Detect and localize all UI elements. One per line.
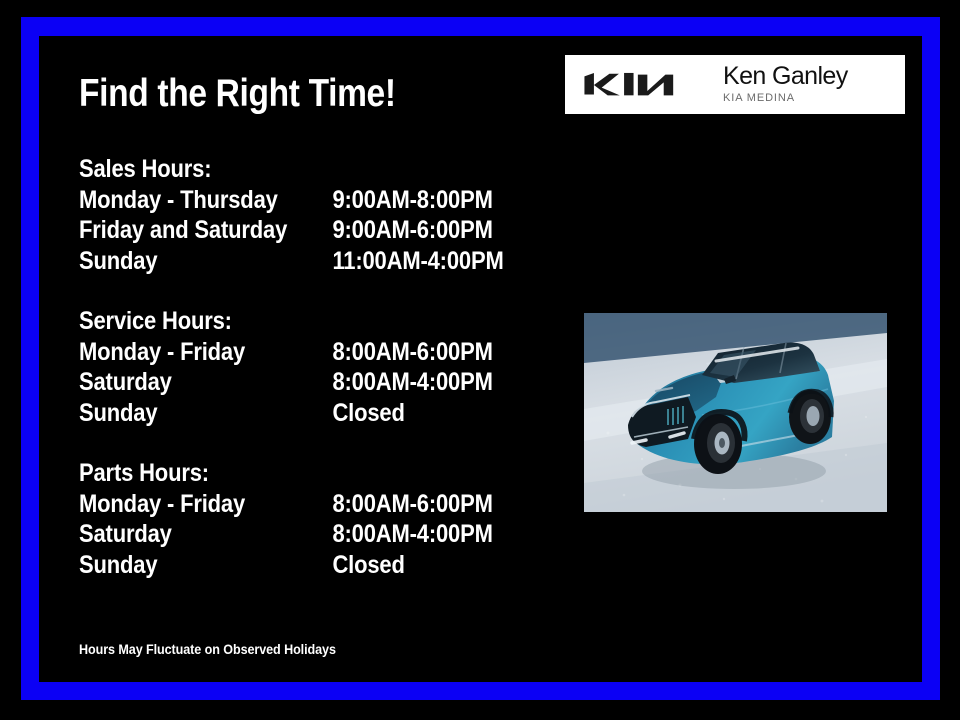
- hours-row: Sunday Closed: [79, 550, 537, 581]
- hours-row-days: Saturday: [79, 367, 332, 398]
- hours-row-days: Monday - Thursday: [79, 185, 332, 216]
- hours-block-heading: Service Hours:: [79, 306, 501, 337]
- hours-row-days: Sunday: [79, 246, 332, 277]
- dealer-subtitle: KIA MEDINA: [723, 91, 848, 105]
- page-title: Find the Right Time!: [79, 74, 396, 113]
- kia-logo-icon: [581, 70, 693, 100]
- hours-row-days: Monday - Friday: [79, 337, 332, 368]
- hours-row-time: 8:00AM-6:00PM: [332, 337, 492, 368]
- hours-row: Friday and Saturday 9:00AM-6:00PM: [79, 215, 537, 246]
- hours-row-time: 8:00AM-4:00PM: [332, 367, 492, 398]
- hours-block-parts: Parts Hours: Monday - Friday 8:00AM-6:00…: [79, 458, 559, 580]
- hours-row-time: 8:00AM-4:00PM: [332, 519, 492, 550]
- slide-canvas-root: Find the Right Time! Sales Hours: Monday…: [0, 0, 960, 720]
- hours-row-time: 9:00AM-6:00PM: [332, 215, 492, 246]
- hours-block-heading: Parts Hours:: [79, 458, 501, 489]
- slide-content-area: Find the Right Time! Sales Hours: Monday…: [39, 36, 922, 682]
- hours-block-heading: Sales Hours:: [79, 154, 501, 185]
- hours-row-time: 9:00AM-8:00PM: [332, 185, 492, 216]
- hours-row-time: 11:00AM-4:00PM: [332, 246, 503, 277]
- hours-row-time: 8:00AM-6:00PM: [332, 489, 492, 520]
- hours-area: Sales Hours: Monday - Thursday 9:00AM-8:…: [79, 154, 559, 580]
- hours-row: Monday - Thursday 9:00AM-8:00PM: [79, 185, 537, 216]
- hours-row-days: Sunday: [79, 398, 332, 429]
- hours-row: Saturday 8:00AM-4:00PM: [79, 367, 537, 398]
- hours-row-time: Closed: [332, 398, 404, 429]
- dealer-name: Ken Ganley: [723, 64, 848, 89]
- hours-row: Monday - Friday 8:00AM-6:00PM: [79, 337, 537, 368]
- hours-row-days: Saturday: [79, 519, 332, 550]
- hours-block-service: Service Hours: Monday - Friday 8:00AM-6:…: [79, 306, 559, 428]
- hours-block-sales: Sales Hours: Monday - Thursday 9:00AM-8:…: [79, 154, 559, 276]
- dealer-name-group: Ken Ganley KIA MEDINA: [723, 64, 848, 105]
- hours-row: Monday - Friday 8:00AM-6:00PM: [79, 489, 537, 520]
- hours-row-days: Monday - Friday: [79, 489, 332, 520]
- kia-ev9-suv-photo: [584, 313, 887, 512]
- hours-row: Sunday 11:00AM-4:00PM: [79, 246, 537, 277]
- dealer-logo-banner: Ken Ganley KIA MEDINA: [565, 55, 905, 114]
- hours-row-days: Friday and Saturday: [79, 215, 332, 246]
- hours-row: Saturday 8:00AM-4:00PM: [79, 519, 537, 550]
- footer-disclaimer: Hours May Fluctuate on Observed Holidays: [79, 641, 336, 657]
- hours-row-days: Sunday: [79, 550, 332, 581]
- hours-row-time: Closed: [332, 550, 404, 581]
- hours-row: Sunday Closed: [79, 398, 537, 429]
